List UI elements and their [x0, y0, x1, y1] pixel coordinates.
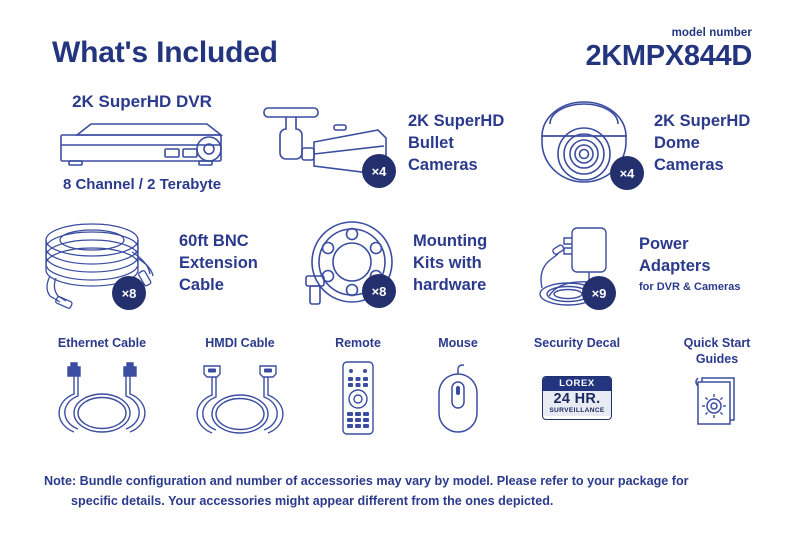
item-dvr-title: 2K SuperHD DVR — [28, 92, 256, 112]
mouse-icon — [412, 360, 504, 436]
item-dome-cameras-label: 2K SuperHD Dome Cameras — [654, 111, 750, 176]
decal-brand: LOREX — [543, 377, 611, 391]
model-info: model number 2KMPX844D — [585, 27, 752, 73]
item-dvr: 2K SuperHD DVR 8 Channel / 2 Terabyte — [28, 92, 256, 193]
quantity-badge-power: ×9 — [582, 276, 616, 310]
accessory-hdmi-cable-label: HMDI Cable — [180, 336, 300, 352]
dome-line-3: Cameras — [654, 155, 750, 177]
accessory-security-decal-label: Security Decal — [512, 336, 642, 352]
accessories-row: Ethernet Cable HMDI Cable — [0, 336, 800, 456]
item-mounting-kits: ×8 Mounting Kits with hardware — [300, 214, 487, 314]
item-bnc-cable: ×8 60ft BNC Extension Cable — [34, 214, 258, 314]
booklet-gear-icon — [652, 371, 782, 431]
accessory-remote: Remote — [312, 336, 404, 436]
mounting-line-3: hardware — [413, 275, 487, 297]
item-dome-cameras: ×4 2K SuperHD Dome Cameras — [528, 94, 790, 194]
item-power-adapters: ×9 Power Adapters for DVR & Cameras — [526, 214, 740, 314]
accessory-quick-start-guides-label: Quick Start Guides — [652, 336, 782, 367]
item-bullet-cameras: ×4 2K SuperHD Bullet Cameras — [258, 94, 520, 194]
power-line-1: Power — [639, 234, 740, 256]
bnc-line-3: Cable — [179, 275, 258, 297]
hdmi-cable-icon — [180, 360, 300, 436]
page-header: What's Included model number 2KMPX844D — [0, 0, 800, 92]
ethernet-cable-icon — [42, 360, 162, 436]
power-line-2: Adapters — [639, 256, 740, 278]
accessory-quick-start-guides: Quick Start Guides — [652, 336, 782, 431]
main-items-row-2: ×8 60ft BNC Extension Cable — [0, 214, 800, 332]
accessory-security-decal: Security Decal LOREX 24 HR. SURVEILLANCE — [512, 336, 642, 436]
bullet-line-3: Cameras — [408, 155, 504, 177]
item-power-adapters-label: Power Adapters for DVR & Cameras — [639, 234, 740, 294]
bnc-line-2: Extension — [179, 253, 258, 275]
item-mounting-kits-label: Mounting Kits with hardware — [413, 231, 487, 296]
security-decal-icon: LOREX 24 HR. SURVEILLANCE — [512, 360, 642, 436]
bullet-camera-icon: ×4 — [258, 94, 400, 194]
quick-start-line-2: Guides — [652, 352, 782, 368]
item-bullet-cameras-label: 2K SuperHD Bullet Cameras — [408, 111, 504, 176]
item-dvr-subtitle: 8 Channel / 2 Terabyte — [28, 176, 256, 193]
bullet-line-2: Bullet — [408, 133, 504, 155]
main-items-row-1: 2K SuperHD DVR 8 Channel / 2 Terabyte — [0, 92, 800, 212]
model-number-label: model number — [585, 27, 752, 39]
accessory-mouse-label: Mouse — [412, 336, 504, 352]
whats-included-page: What's Included model number 2KMPX844D 2… — [0, 0, 800, 533]
dome-line-2: Dome — [654, 133, 750, 155]
mounting-line-2: Kits with — [413, 253, 487, 275]
dvr-icon — [28, 120, 256, 172]
quick-start-line-1: Quick Start — [652, 336, 782, 352]
accessory-remote-label: Remote — [312, 336, 404, 352]
footer-note-line-1: Note: Bundle configuration and number of… — [44, 472, 760, 492]
decal-body: 24 HR. SURVEILLANCE — [543, 391, 611, 417]
quantity-badge-bullet: ×4 — [362, 154, 396, 188]
accessory-ethernet-cable-label: Ethernet Cable — [42, 336, 162, 352]
model-number-value: 2KMPX844D — [585, 40, 752, 73]
quantity-badge-mounting: ×8 — [362, 274, 396, 308]
decal-headline: 24 HR. — [543, 392, 611, 407]
mounting-plate-icon: ×8 — [300, 214, 405, 314]
page-title: What's Included — [52, 36, 278, 70]
quantity-badge-dome: ×4 — [610, 156, 644, 190]
decal-subline: SURVEILLANCE — [543, 407, 611, 414]
decal-sticker: LOREX 24 HR. SURVEILLANCE — [542, 376, 612, 420]
accessory-ethernet-cable: Ethernet Cable — [42, 336, 162, 436]
accessory-hdmi-cable: HMDI Cable — [180, 336, 300, 436]
bullet-line-1: 2K SuperHD — [408, 111, 504, 133]
footer-note: Note: Bundle configuration and number of… — [44, 472, 760, 511]
power-adapter-icon: ×9 — [526, 214, 631, 314]
bnc-line-1: 60ft BNC — [179, 231, 258, 253]
dome-camera-icon: ×4 — [528, 94, 648, 194]
dome-line-1: 2K SuperHD — [654, 111, 750, 133]
item-power-adapters-subtitle: for DVR & Cameras — [639, 280, 740, 295]
footer-note-line-2: specific details. Your accessories might… — [44, 492, 760, 512]
remote-control-icon — [312, 360, 404, 436]
coiled-cable-icon: ×8 — [34, 214, 169, 314]
mounting-line-1: Mounting — [413, 231, 487, 253]
item-bnc-cable-label: 60ft BNC Extension Cable — [179, 231, 258, 296]
accessory-mouse: Mouse — [412, 336, 504, 436]
quantity-badge-bnc: ×8 — [112, 276, 146, 310]
